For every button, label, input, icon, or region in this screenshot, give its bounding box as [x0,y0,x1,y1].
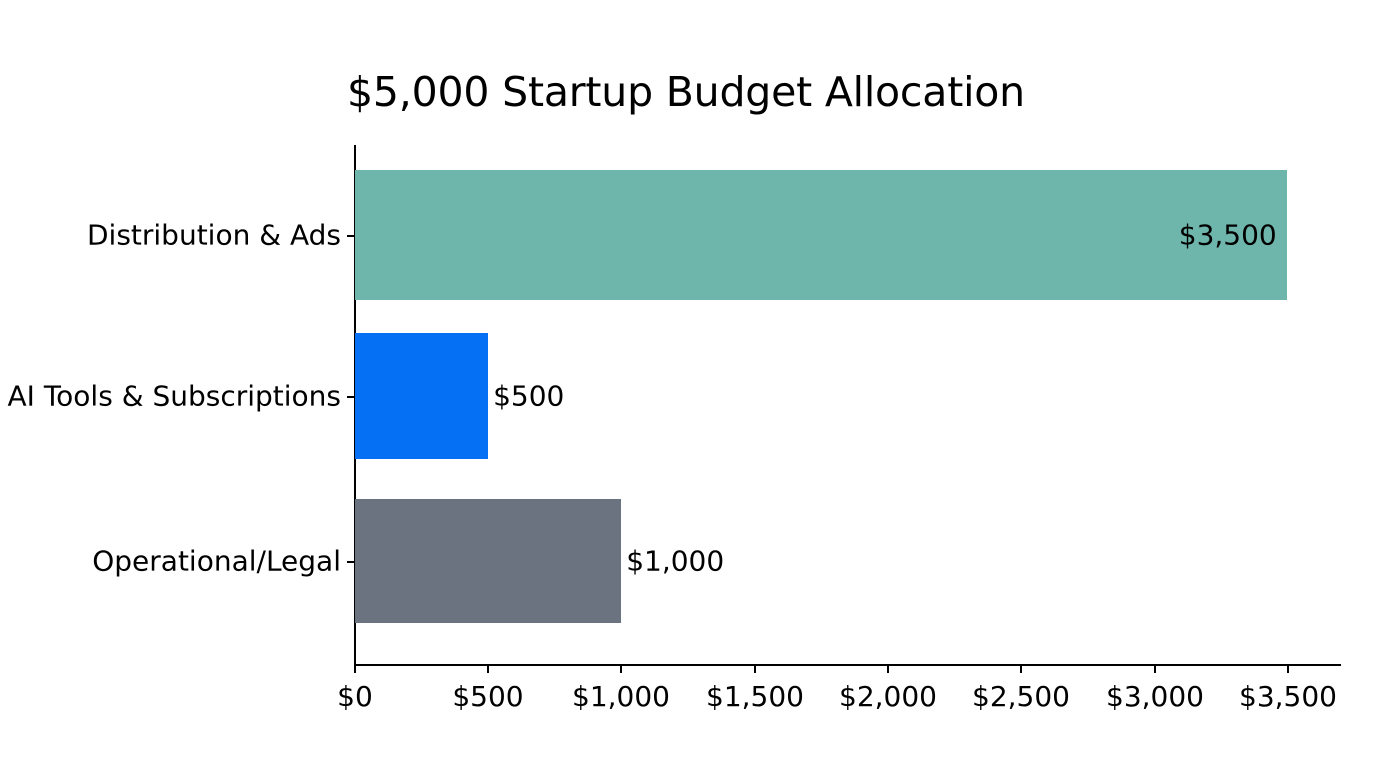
bar-distribution-ads[interactable]: $3,500 [355,170,1287,300]
chart-title: $5,000 Startup Budget Allocation [0,72,1374,113]
y-tick-mark-operational-legal [347,561,354,563]
bar-operational-legal[interactable] [355,499,621,623]
bar-value-label-ai-tools-subscriptions: $500 [493,380,564,413]
y-tick-mark-ai-tools-subscriptions [347,396,354,398]
x-tick-label-2500: $2,500 [972,680,1070,713]
x-tick-mark-1500 [754,666,756,673]
y-tick-label-distribution-ads: Distribution & Ads [87,219,341,252]
x-tick-label-2000: $2,000 [839,680,937,713]
x-tick-label-3500: $3,500 [1239,680,1337,713]
plot-area: $3,500 Distribution & Ads $500 AI Tools … [355,145,1340,665]
x-tick-mark-0 [354,666,356,673]
bar-value-label-distribution-ads: $3,500 [1179,219,1277,252]
y-tick-label-operational-legal: Operational/Legal [92,545,341,578]
x-tick-label-1000: $1,000 [572,680,670,713]
bar-value-label-operational-legal: $1,000 [626,545,724,578]
x-tick-label-500: $500 [452,680,523,713]
x-tick-mark-2000 [887,666,889,673]
x-tick-label-1500: $1,500 [706,680,804,713]
x-tick-mark-500 [487,666,489,673]
x-tick-mark-1000 [620,666,622,673]
x-tick-mark-3000 [1154,666,1156,673]
x-tick-mark-2500 [1020,666,1022,673]
chart-figure: $5,000 Startup Budget Allocation $3,500 … [0,0,1376,768]
y-tick-mark-distribution-ads [347,235,354,237]
x-tick-label-0: $0 [337,680,373,713]
x-tick-mark-3500 [1287,666,1289,673]
x-tick-label-3000: $3,000 [1106,680,1204,713]
x-axis-spine [354,664,1341,666]
bar-ai-tools-subscriptions[interactable] [355,333,488,459]
y-tick-label-ai-tools-subscriptions: AI Tools & Subscriptions [8,380,341,413]
